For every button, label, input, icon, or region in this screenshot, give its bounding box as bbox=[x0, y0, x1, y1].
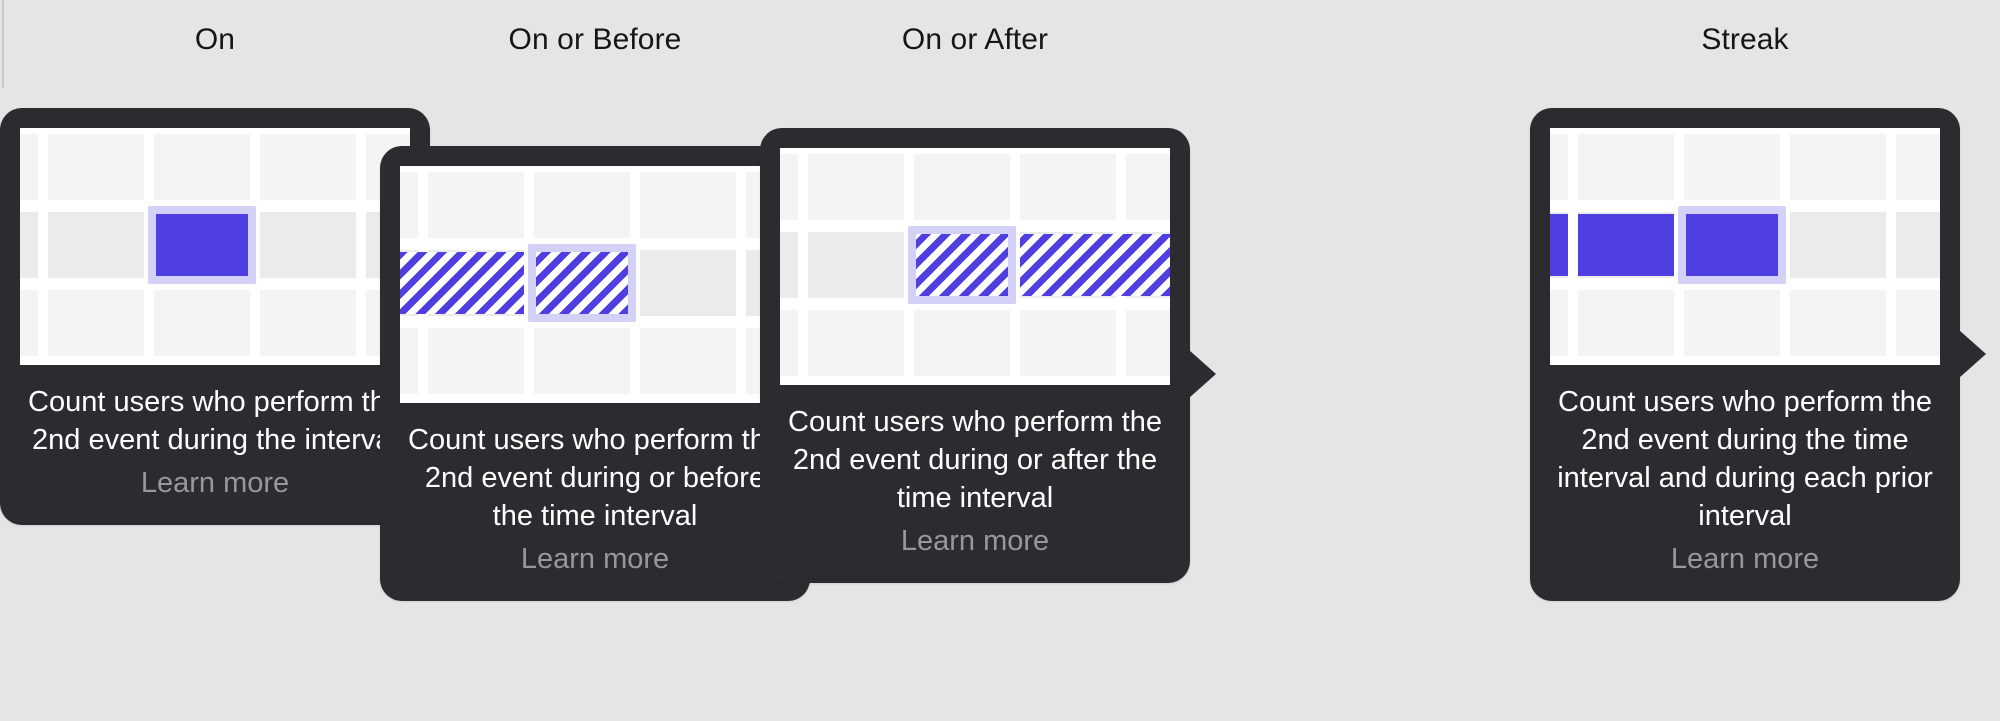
diagram-hatched-block-prior bbox=[400, 252, 524, 314]
learn-more-link-on-or-after[interactable]: Learn more bbox=[780, 521, 1170, 561]
column-title-streak: Streak bbox=[1530, 22, 1960, 58]
diagram-solid-block bbox=[156, 214, 248, 276]
diagram-hatched-block-selected bbox=[916, 234, 1008, 296]
diagram-hatched-block-after bbox=[1020, 234, 1170, 296]
diagram-on bbox=[20, 128, 410, 365]
card-description-on-or-before: Count users who perform the 2nd event du… bbox=[400, 421, 790, 535]
card-on-or-before[interactable]: Count users who perform the 2nd event du… bbox=[380, 146, 810, 601]
learn-more-link-streak[interactable]: Learn more bbox=[1550, 539, 1940, 579]
card-on-or-after[interactable]: Count users who perform the 2nd event du… bbox=[760, 128, 1190, 583]
card-description-on: Count users who perform the 2nd event du… bbox=[20, 383, 410, 459]
card-arrow-tail-on-or-after bbox=[1189, 350, 1216, 398]
learn-more-link-on[interactable]: Learn more bbox=[20, 463, 410, 503]
diagram-on-or-after bbox=[780, 148, 1170, 385]
card-description-on-or-after: Count users who perform the 2nd event du… bbox=[780, 403, 1170, 517]
column-title-on-or-before: On or Before bbox=[380, 22, 810, 58]
card-streak[interactable]: Count users who perform the 2nd event du… bbox=[1530, 108, 1960, 601]
diagram-hatched-block-selected bbox=[536, 252, 628, 314]
diagram-streak bbox=[1550, 128, 1940, 365]
column-title-on: On bbox=[0, 22, 430, 58]
column-title-on-or-after: On or After bbox=[760, 22, 1190, 58]
diagram-solid-block-selected bbox=[1686, 214, 1778, 276]
comparison-cards-stage: On bbox=[0, 0, 2000, 721]
diagram-solid-block-prior bbox=[1578, 214, 1674, 276]
diagram-solid-block-prior-edge bbox=[1550, 214, 1568, 276]
diagram-on-or-before bbox=[400, 166, 790, 403]
card-description-streak: Count users who perform the 2nd event du… bbox=[1550, 383, 1940, 535]
card-arrow-tail-streak bbox=[1959, 330, 1986, 378]
learn-more-link-on-or-before[interactable]: Learn more bbox=[400, 539, 790, 579]
card-on[interactable]: Count users who perform the 2nd event du… bbox=[0, 108, 430, 525]
